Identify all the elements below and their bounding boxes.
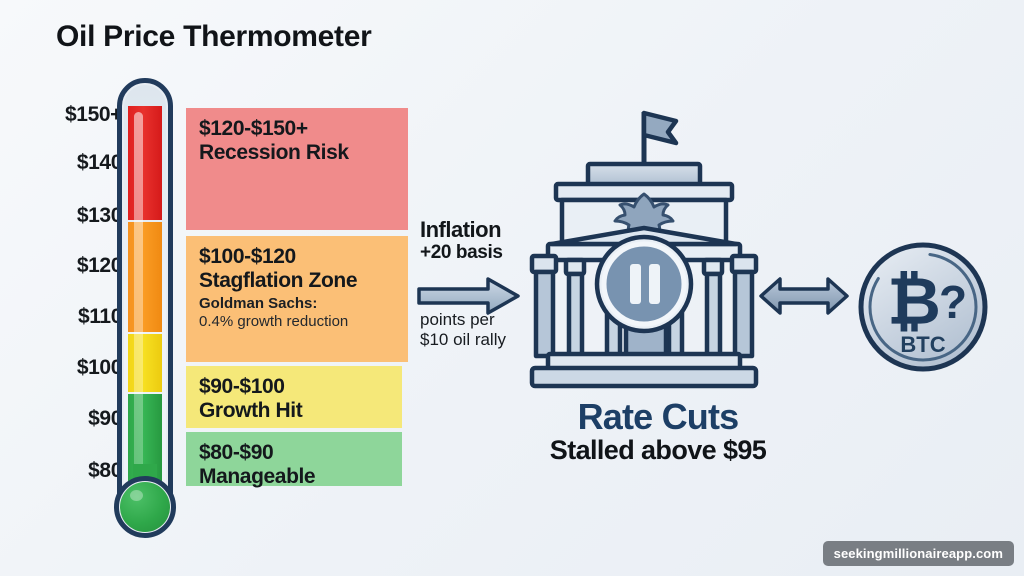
- band-range: $120-$150+: [199, 117, 408, 141]
- btc-label: BTC: [900, 332, 945, 357]
- thermometer-bulb-fill: [120, 482, 170, 532]
- band-growth-hit: $90-$100 Growth Hit: [186, 366, 402, 428]
- bitcoin-coin-icon: ₿ ? BTC: [856, 240, 990, 374]
- rate-cuts-headline: Rate Cuts: [508, 398, 808, 436]
- band-range: $100-$120: [199, 245, 408, 269]
- thermometer-gloss-highlight: [134, 112, 143, 502]
- band-label: Growth Hit: [199, 399, 402, 423]
- band-range: $80-$90: [199, 441, 402, 465]
- page-title: Oil Price Thermometer: [56, 20, 371, 54]
- pause-bar-left: [630, 264, 641, 304]
- central-bank-icon: [508, 96, 808, 396]
- right-arrow-icon: [416, 276, 521, 316]
- rate-cuts-caption: Rate Cuts Stalled above $95: [508, 398, 808, 465]
- band-label: Recession Risk: [199, 141, 408, 165]
- band-stagflation-zone: $100-$120 Stagflation Zone Goldman Sachs…: [186, 236, 408, 362]
- thermometer-graphic: [106, 78, 184, 558]
- band-manageable: $80-$90 Manageable: [186, 432, 402, 486]
- band-note-source: Goldman Sachs:: [199, 295, 408, 313]
- question-mark: ?: [939, 276, 967, 328]
- double-arrow-icon: [758, 274, 850, 318]
- band-label: Manageable: [199, 465, 402, 489]
- infographic-canvas: Oil Price Thermometer $150+ $140 $130 $1…: [0, 0, 1024, 576]
- bitcoin-symbol: ₿: [887, 264, 941, 338]
- band-range: $90-$100: [199, 375, 402, 399]
- pause-bar-right: [649, 264, 660, 304]
- band-label: Stagflation Zone: [199, 269, 408, 293]
- band-note-detail: 0.4% growth reduction: [199, 313, 408, 331]
- rate-cuts-subline: Stalled above $95: [508, 436, 808, 466]
- band-recession-risk: $120-$150+ Recession Risk: [186, 108, 408, 230]
- watermark: seekingmillionaireapp.com: [823, 541, 1014, 566]
- thermometer-bulb-highlight-icon: [130, 490, 143, 501]
